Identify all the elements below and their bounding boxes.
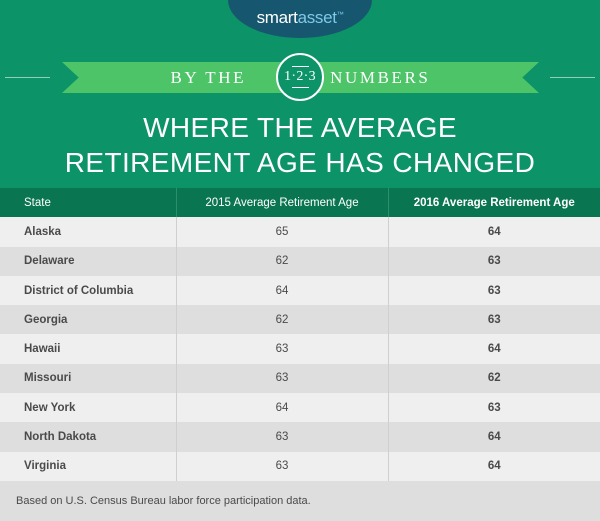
- column-header-age-2016[interactable]: 2016 Average Retirement Age: [388, 188, 600, 217]
- cell-age-2015: 65: [176, 217, 388, 246]
- table-row: Georgia 62 63: [0, 305, 600, 334]
- badge-number-label: 1·2·3: [284, 70, 316, 84]
- smartasset-logo-badge: smartasset™: [228, 0, 372, 38]
- cell-state: Georgia: [0, 305, 176, 334]
- logo-word-asset: asset: [298, 8, 337, 27]
- table-body: Alaska 65 64 Delaware 62 63 District of …: [0, 217, 600, 481]
- trademark-icon: ™: [337, 11, 344, 18]
- cell-age-2016: 64: [388, 217, 600, 246]
- cell-state: Missouri: [0, 364, 176, 393]
- cell-age-2015: 64: [176, 276, 388, 305]
- cell-age-2016: 63: [388, 393, 600, 422]
- retirement-age-table: State 2015 Average Retirement Age 2016 A…: [0, 188, 600, 481]
- table-row: Missouri 63 62: [0, 364, 600, 393]
- table-row: North Dakota 63 64: [0, 422, 600, 451]
- badge-line-bottom: [292, 87, 309, 88]
- page-title: WHERE THE AVERAGE RETIREMENT AGE HAS CHA…: [0, 110, 600, 181]
- banner-rule-left: [5, 77, 50, 78]
- logo-wordmark: smartasset™: [257, 8, 344, 28]
- cell-state: Alaska: [0, 217, 176, 246]
- logo-word-smart: smart: [257, 8, 298, 27]
- numbers-badge-circle: 1·2·3: [276, 53, 324, 101]
- cell-state: Delaware: [0, 247, 176, 276]
- cell-state: District of Columbia: [0, 276, 176, 305]
- table-row: Hawaii 63 64: [0, 334, 600, 363]
- cell-age-2015: 64: [176, 393, 388, 422]
- cell-age-2016: 62: [388, 364, 600, 393]
- cell-age-2015: 63: [176, 334, 388, 363]
- cell-age-2016: 64: [388, 334, 600, 363]
- table-row: New York 64 63: [0, 393, 600, 422]
- cell-age-2016: 63: [388, 276, 600, 305]
- cell-age-2016: 64: [388, 422, 600, 451]
- table-row: Virginia 63 64: [0, 452, 600, 481]
- source-footer: Based on U.S. Census Bureau labor force …: [0, 481, 600, 521]
- cell-age-2015: 63: [176, 452, 388, 481]
- column-header-state[interactable]: State: [0, 188, 176, 217]
- cell-age-2015: 62: [176, 247, 388, 276]
- cell-age-2015: 63: [176, 422, 388, 451]
- cell-state: North Dakota: [0, 422, 176, 451]
- banner-rule-right: [550, 77, 595, 78]
- cell-age-2015: 62: [176, 305, 388, 334]
- table-header: State 2015 Average Retirement Age 2016 A…: [0, 188, 600, 217]
- cell-state: New York: [0, 393, 176, 422]
- cell-state: Virginia: [0, 452, 176, 481]
- cell-age-2016: 63: [388, 247, 600, 276]
- cell-age-2016: 64: [388, 452, 600, 481]
- page-title-line-1: WHERE THE AVERAGE: [143, 112, 457, 143]
- cell-state: Hawaii: [0, 334, 176, 363]
- table-row: Alaska 65 64: [0, 217, 600, 246]
- cell-age-2016: 63: [388, 305, 600, 334]
- table-header-row: State 2015 Average Retirement Age 2016 A…: [0, 188, 600, 217]
- table-row: Delaware 62 63: [0, 247, 600, 276]
- badge-line-top: [292, 66, 309, 67]
- source-note: Based on U.S. Census Bureau labor force …: [16, 495, 311, 507]
- column-header-age-2015[interactable]: 2015 Average Retirement Age: [176, 188, 388, 217]
- banner-text-left: BY THE: [171, 68, 289, 88]
- page-title-line-2: RETIREMENT AGE HAS CHANGED: [0, 145, 600, 180]
- table-row: District of Columbia 64 63: [0, 276, 600, 305]
- cell-age-2015: 63: [176, 364, 388, 393]
